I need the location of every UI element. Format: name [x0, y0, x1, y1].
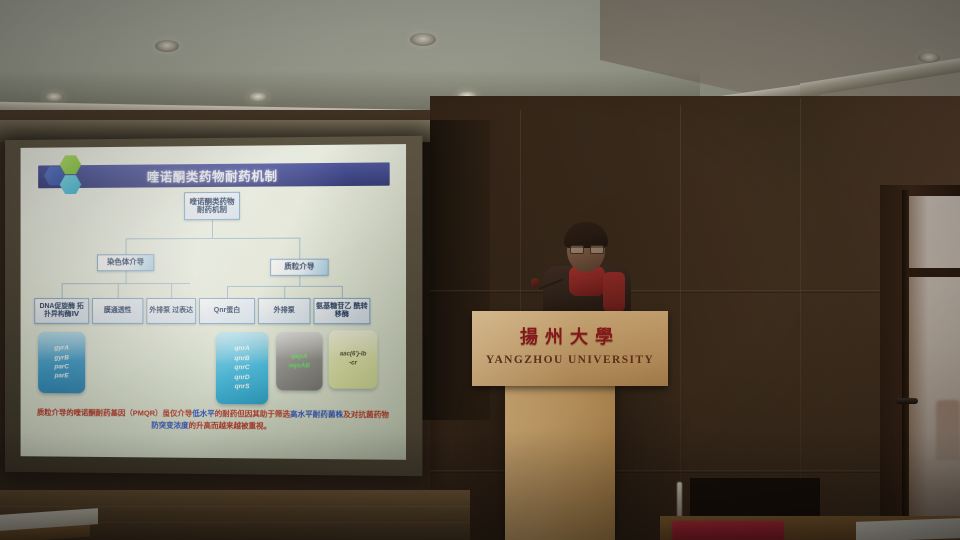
door-glass-divider [908, 268, 960, 277]
speaker [525, 222, 645, 322]
flow-edge [227, 286, 228, 298]
flow-node-leaf: 外排泵 [258, 298, 310, 324]
caption-part: 的升高而越来越被重视。 [189, 421, 272, 431]
projection-screen-frame: 喹诺酮类药物耐药机制 喹诺酮类药物耐药机制 染色体介 [5, 136, 422, 476]
conference-photo: 喹诺酮类药物耐药机制 喹诺酮类药物耐药机制 染色体介 [0, 0, 960, 540]
gene-label: -cr [349, 359, 357, 368]
slide-caption: 质粒介导的喹诺酮耐药基因（PMQR）虽仅介导低水平的耐药但因其助于筛选高水平耐药… [34, 407, 391, 434]
corridor-light-falloff [908, 196, 928, 540]
flow-node-branch-plasmid: 质粒介导 [270, 259, 329, 276]
flow-edge [118, 283, 119, 298]
flow-edge [342, 286, 343, 298]
speaker-scarf-side [603, 272, 625, 312]
caption-part: 及对抗菌药物 [343, 410, 389, 419]
corridor-object [936, 400, 960, 460]
papers-on-table [856, 518, 960, 540]
flow-edge [126, 238, 301, 240]
podium-base [505, 386, 615, 540]
gene-label: qnrD [234, 373, 249, 383]
flow-node-branch-chromosome: 染色体介导 [97, 254, 154, 271]
gene-label: qnrS [235, 382, 250, 392]
flow-node-leaf: 膜通透性 [92, 298, 143, 324]
flow-edge [284, 286, 285, 298]
recessed-ceiling-light [410, 33, 436, 46]
projection-screen: 喹诺酮类药物耐药机制 喹诺酮类药物耐药机制 染色体介 [21, 144, 406, 460]
gene-box-qnr: qnrA qnrB qnrC qnrD qnrS [216, 332, 268, 404]
caption-part: 于筛选 [267, 409, 290, 418]
flow-edge [62, 283, 63, 298]
floor-board-line [0, 506, 470, 507]
flow-node-leaf: 外排泵 过表达 [146, 298, 196, 324]
recessed-ceiling-light [155, 40, 179, 52]
caption-part: 质粒介导的喹诺酮耐药基因（PMQR）虽仅介导 [37, 408, 192, 418]
red-banner [672, 521, 784, 540]
gene-box-chromosomal: gyrA gyrB parC parE [38, 332, 85, 394]
flow-edge [126, 238, 127, 254]
hexagon-cyan-icon [60, 175, 82, 194]
university-name-en: YANGZHOU UNIVERSITY [472, 354, 668, 366]
gene-box-efflux: qepA oqxAB [276, 332, 322, 390]
power-cable [677, 482, 682, 518]
flow-edge [299, 238, 300, 259]
slide-logo [44, 155, 89, 195]
gene-box-aac: aac(6')-Ib -cr [329, 330, 378, 389]
door-handle-icon[interactable] [896, 398, 918, 404]
hexagon-green-icon [60, 155, 82, 174]
gene-label: parC [54, 362, 69, 371]
caption-highlight: 高水平耐药菌株 [290, 410, 343, 419]
microphone-icon [531, 278, 539, 288]
door-edge [902, 190, 909, 540]
slide-title: 喹诺酮类药物耐药机制 [38, 162, 390, 188]
flow-edge [171, 283, 172, 298]
university-name-cn: 揚州大學 [472, 323, 668, 349]
slide-title-bar: 喹诺酮类药物耐药机制 [38, 162, 390, 188]
flow-node-leaf: Qnr蛋白 [199, 298, 255, 324]
wall-panel-seam [800, 98, 801, 518]
gene-label: parE [55, 372, 69, 381]
flow-edge [299, 276, 300, 286]
recessed-ceiling-light [44, 92, 64, 102]
caption-highlight: 低水平 [192, 409, 214, 418]
flow-node-leaf: DNA促旋酶 拓扑异构酶Ⅳ [34, 298, 89, 324]
gene-label: oqxAB [289, 361, 310, 371]
flow-node-root: 喹诺酮类药物耐药机制 [184, 192, 240, 220]
caption-part: 的耐药但因其助 [215, 409, 268, 418]
podium-front-panel: 揚州大學 YANGZHOU UNIVERSITY [472, 311, 668, 386]
recessed-ceiling-light [248, 92, 268, 102]
flow-edge [212, 220, 213, 238]
caption-highlight: 防突变浓度 [151, 421, 188, 430]
glasses-icon [570, 244, 602, 252]
flow-node-leaf: 氨基糖苷乙 酰转移酶 [313, 298, 370, 324]
wall-panel-seam [680, 105, 681, 525]
flow-edge [126, 271, 127, 283]
